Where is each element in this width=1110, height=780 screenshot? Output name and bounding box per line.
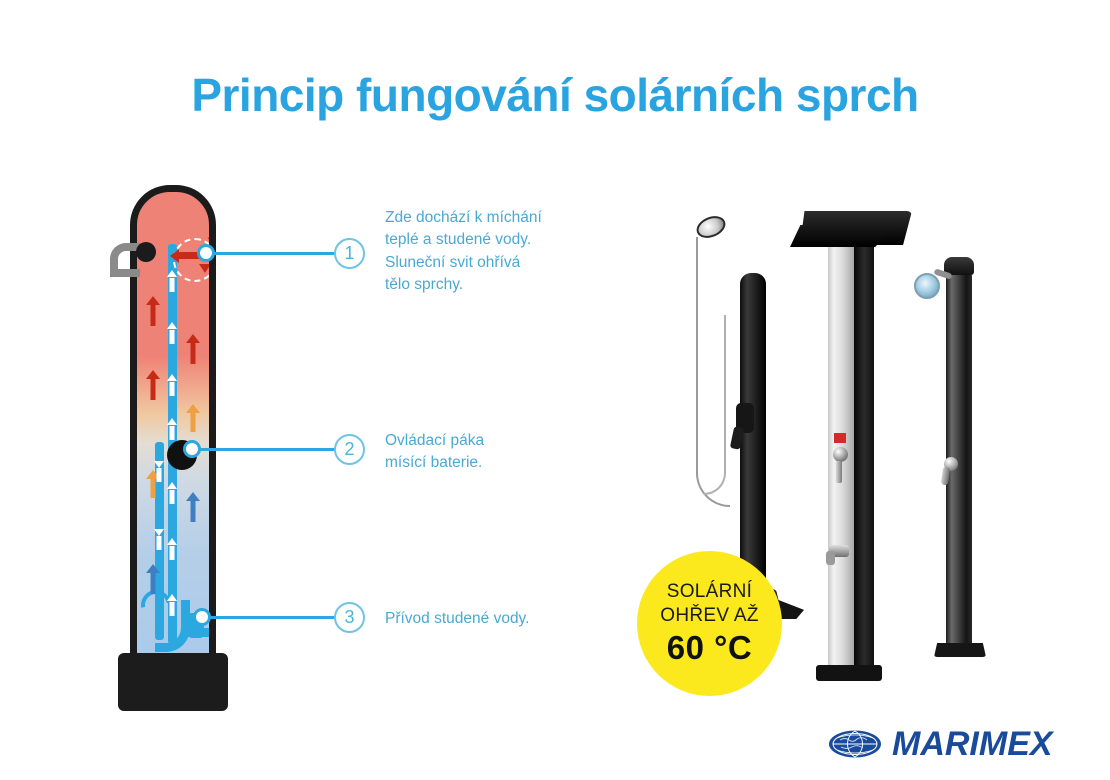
- callout-number-2[interactable]: 2: [334, 434, 365, 465]
- callout-text-3-line-1: Přívod studené vody.: [385, 608, 625, 630]
- callout-leader-2: [198, 448, 336, 451]
- status-badge: SOLÁRNÍ OHŘEV AŽ 60 °C: [637, 551, 782, 696]
- shower-base-plate: [934, 643, 986, 657]
- callout-text-1: Zde dochází k míchání teplé a studené vo…: [385, 207, 615, 297]
- badge-line-2: OHŘEV AŽ: [660, 604, 758, 628]
- shower-base-plate: [816, 665, 882, 681]
- mixer-knob: [833, 447, 848, 462]
- callout-text-2: Ovládací páka mísící baterie.: [385, 430, 615, 475]
- callout-leader-3: [208, 616, 336, 619]
- marimex-logo: MARIMEX: [828, 722, 1068, 766]
- callout-number-1[interactable]: 1: [334, 238, 365, 269]
- callout-text-3: Přívod studené vody.: [385, 608, 625, 630]
- callout-anchor-3[interactable]: [193, 608, 211, 626]
- shower-base: [118, 653, 228, 711]
- callout-text-1-line-4: tělo sprchy.: [385, 274, 615, 296]
- round-shower-head-icon: [914, 273, 940, 299]
- mixing-arrow-head-icon: [170, 249, 179, 263]
- globe-icon: [828, 729, 882, 759]
- callout-number-3[interactable]: 3: [334, 602, 365, 633]
- mixing-curve-arrow-head-icon: [199, 264, 211, 273]
- shower-hose-loop: [704, 315, 726, 495]
- page-title: Princip fungování solárních sprch: [0, 70, 1110, 121]
- red-warning-label: [834, 433, 846, 443]
- mixer-knob-lever: [836, 461, 842, 483]
- callout-text-2-line-2: mísící baterie.: [385, 452, 615, 474]
- callout-text-1-line-2: teplé a studené vody.: [385, 229, 615, 251]
- badge-line-1: SOLÁRNÍ: [667, 580, 753, 604]
- shower-column-side: [852, 241, 874, 671]
- shower-outlet-joint: [136, 242, 156, 262]
- callout-anchor-1[interactable]: [197, 244, 215, 262]
- shower-body-interior: [137, 192, 209, 674]
- callout-leader-1: [212, 252, 336, 255]
- infographic-canvas: Princip fungování solárních sprch: [0, 0, 1110, 780]
- callout-text-1-line-3: Sluneční svit ohřívá: [385, 252, 615, 274]
- foot-wash-tap-handle: [826, 551, 835, 565]
- callout-text-1-line-1: Zde dochází k míchání: [385, 207, 615, 229]
- callout-anchor-2[interactable]: [183, 440, 201, 458]
- logo-wordmark: MARIMEX: [892, 725, 1053, 764]
- badge-temperature: 60 °C: [667, 629, 752, 667]
- callout-text-2-line-1: Ovládací páka: [385, 430, 615, 452]
